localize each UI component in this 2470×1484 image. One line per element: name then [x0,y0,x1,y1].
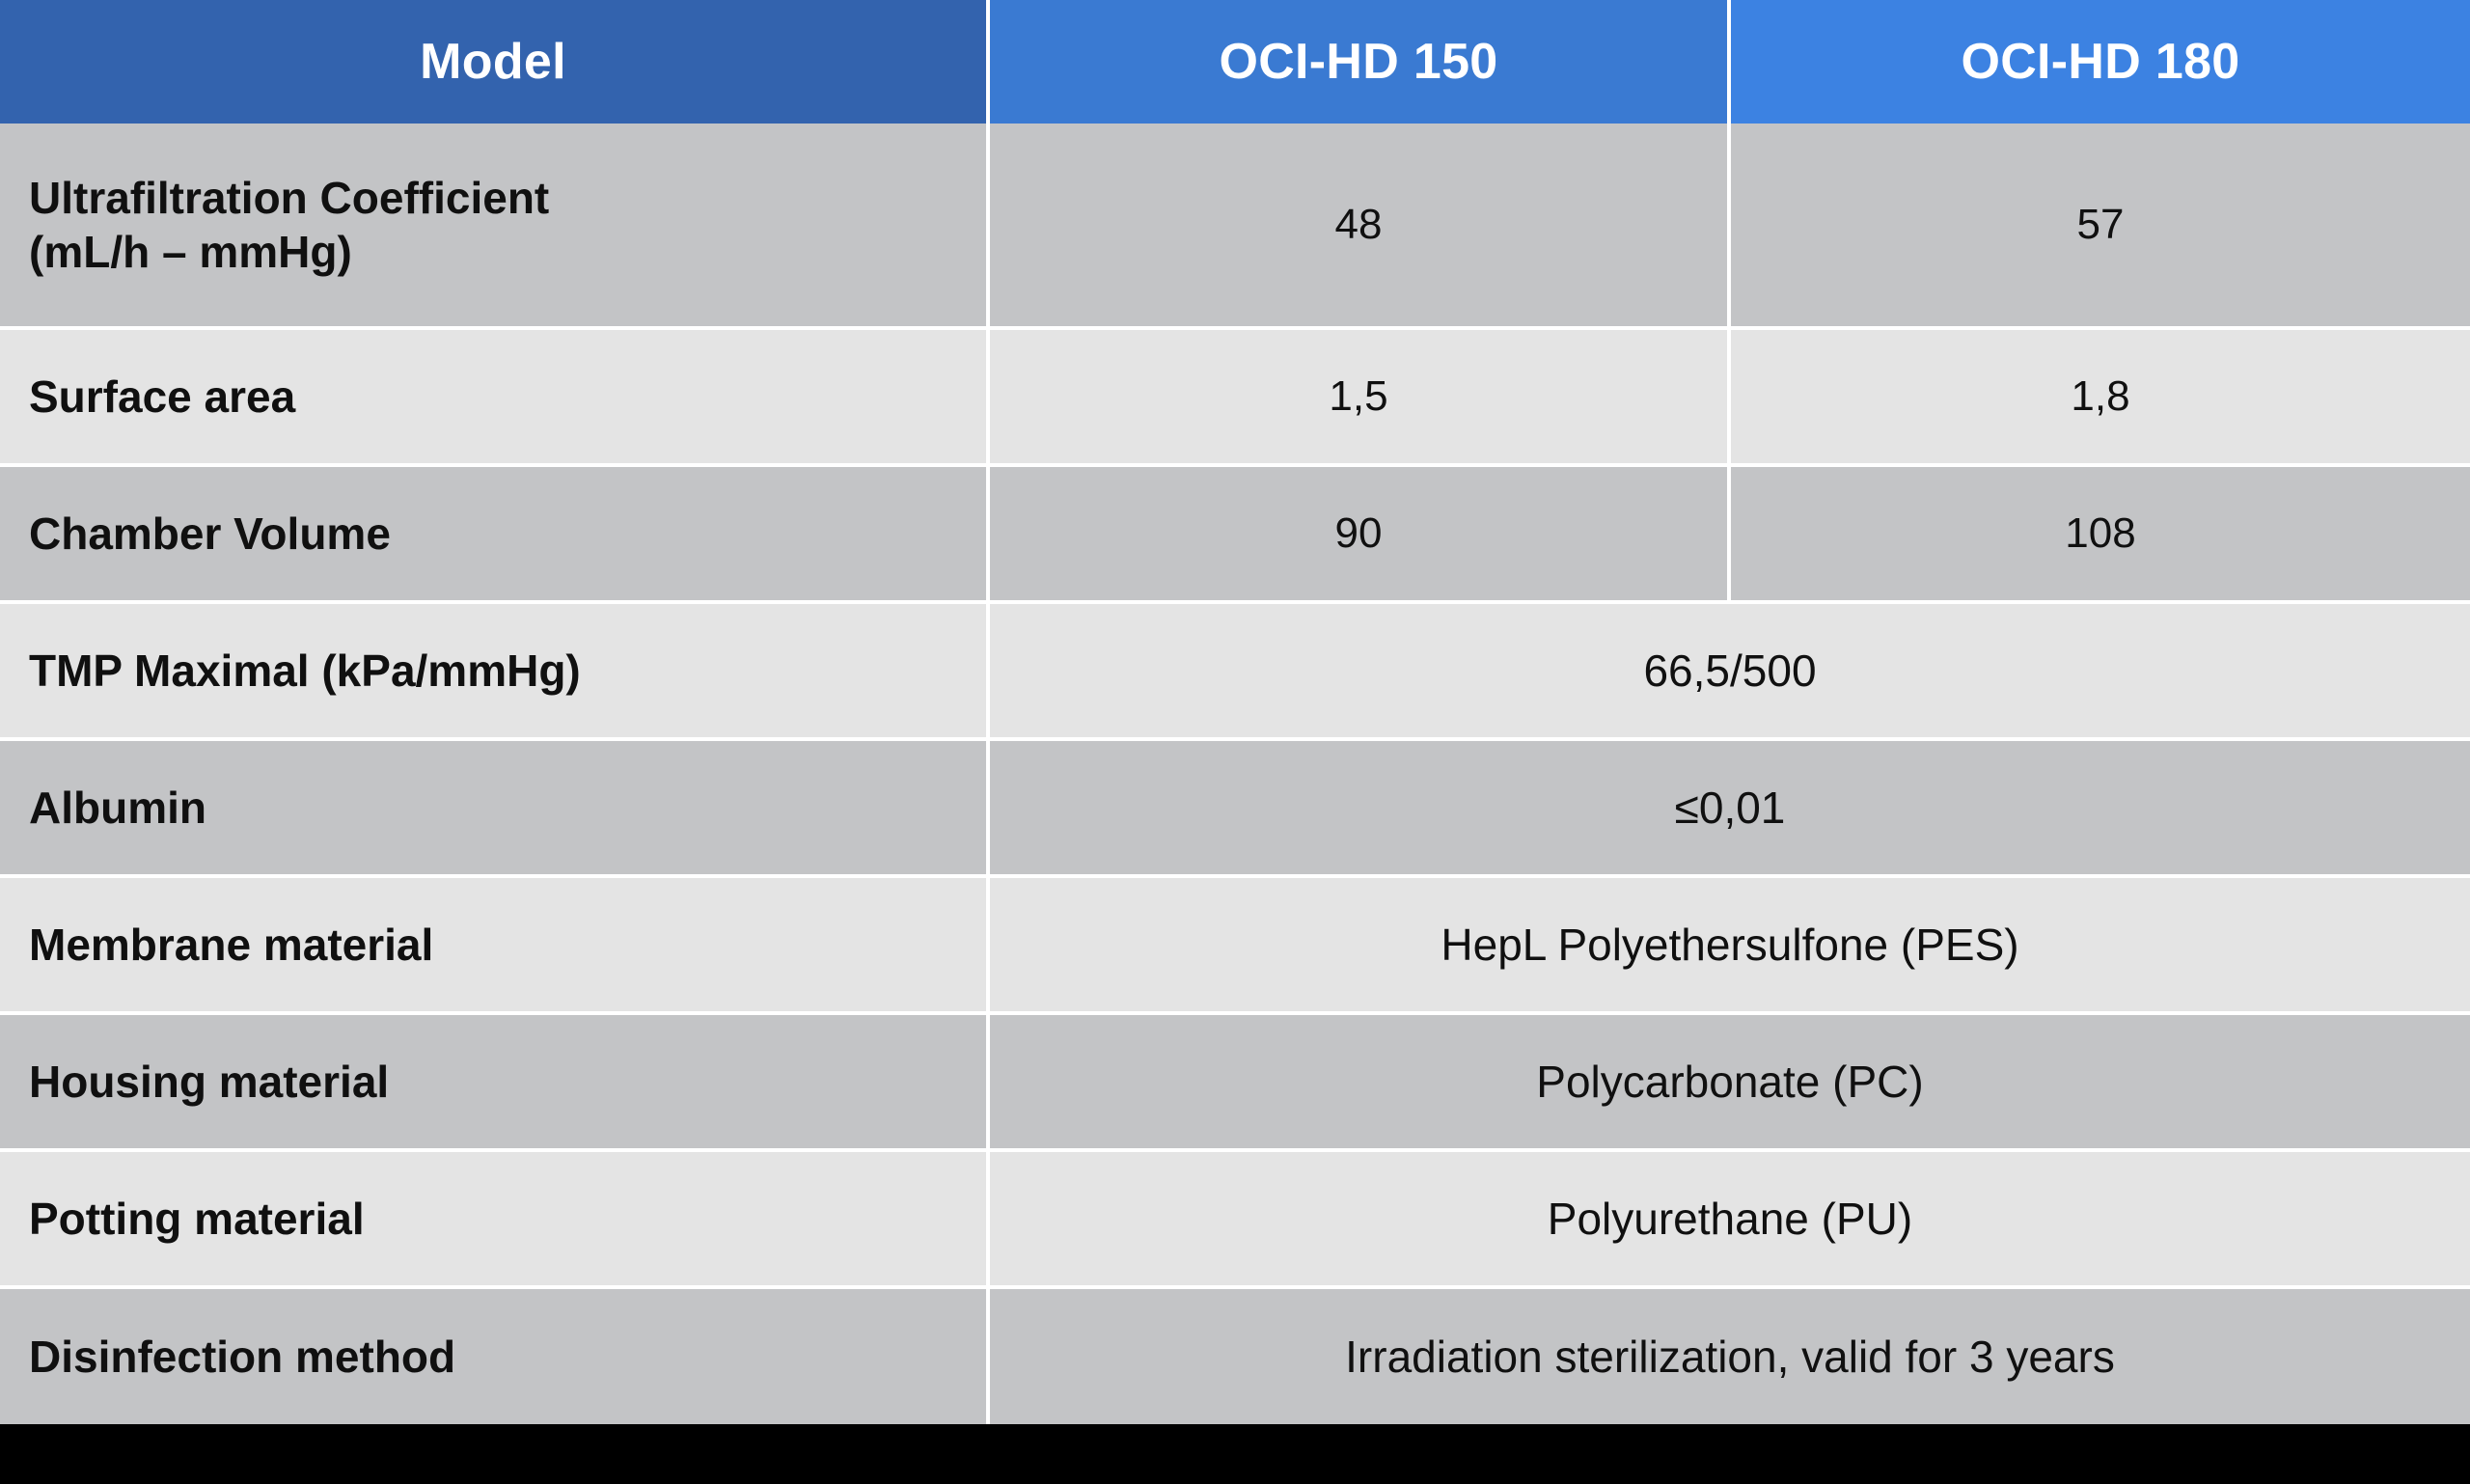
table-row: Ultrafiltration Coefficient (mL/h – mmHg… [0,124,2470,328]
cell-albumin-value: ≤0,01 [988,739,2470,876]
cell-ultrafiltration-coefficient-hd150: 48 [988,124,1729,328]
table-header: Model OCI-HD 150 OCI-HD 180 [0,0,2470,124]
cell-housing-material-value: Polycarbonate (PC) [988,1013,2470,1150]
table-row: Chamber Volume 90 108 [0,465,2470,602]
table-row: Surface area 1,5 1,8 [0,328,2470,465]
cell-potting-material-value: Polyurethane (PU) [988,1150,2470,1287]
cell-disinfection-method-value: Irradiation sterilization, valid for 3 y… [988,1287,2470,1424]
table-body: Ultrafiltration Coefficient (mL/h – mmHg… [0,124,2470,1424]
table-row: Potting material Polyurethane (PU) [0,1150,2470,1287]
cell-surface-area-hd180: 1,8 [1729,328,2470,465]
row-label-surface-area: Surface area [0,328,988,465]
bottom-black-bar [0,1424,2470,1484]
column-header-oci-hd-150: OCI-HD 150 [988,0,1729,124]
row-label-potting-material: Potting material [0,1150,988,1287]
row-label-housing-material: Housing material [0,1013,988,1150]
specification-table: Model OCI-HD 150 OCI-HD 180 Ultrafiltrat… [0,0,2470,1424]
table-row: Housing material Polycarbonate (PC) [0,1013,2470,1150]
table-row: Membrane material HepL Polyethersulfone … [0,876,2470,1013]
row-label-disinfection-method: Disinfection method [0,1287,988,1424]
row-label-ultrafiltration-coefficient: Ultrafiltration Coefficient (mL/h – mmHg… [0,124,988,328]
table-row: Disinfection method Irradiation steriliz… [0,1287,2470,1424]
cell-membrane-material-value: HepL Polyethersulfone (PES) [988,876,2470,1013]
table-row: TMP Maximal (kPa/mmHg) 66,5/500 [0,602,2470,739]
header-row: Model OCI-HD 150 OCI-HD 180 [0,0,2470,124]
row-label-membrane-material: Membrane material [0,876,988,1013]
cell-surface-area-hd150: 1,5 [988,328,1729,465]
column-header-oci-hd-180: OCI-HD 180 [1729,0,2470,124]
cell-tmp-maximal-value: 66,5/500 [988,602,2470,739]
column-header-model: Model [0,0,988,124]
row-label-albumin: Albumin [0,739,988,876]
cell-chamber-volume-hd150: 90 [988,465,1729,602]
row-label-line-1: Ultrafiltration Coefficient [29,173,549,223]
table-row: Albumin ≤0,01 [0,739,2470,876]
row-label-tmp-maximal: TMP Maximal (kPa/mmHg) [0,602,988,739]
cell-ultrafiltration-coefficient-hd180: 57 [1729,124,2470,328]
cell-chamber-volume-hd180: 108 [1729,465,2470,602]
row-label-chamber-volume: Chamber Volume [0,465,988,602]
row-label-line-2: (mL/h – mmHg) [29,227,352,277]
